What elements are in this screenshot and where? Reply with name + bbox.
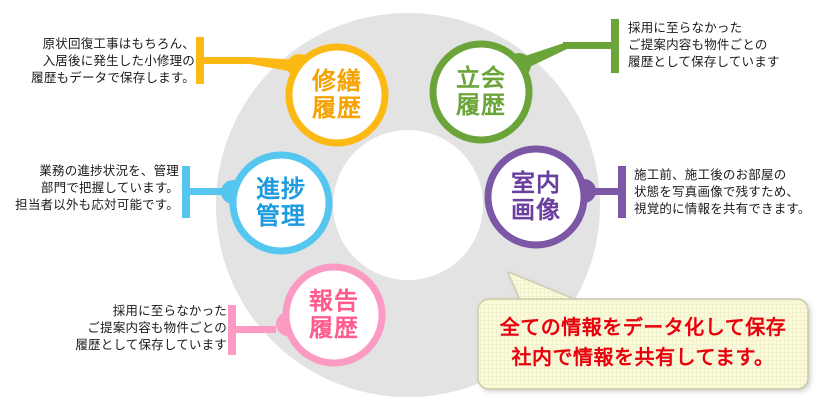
node-label-tachiai-rireki: 立会 履歴 [433,65,529,119]
description-shinchoku-kanri: 業務の進捗状況を、管理 部門で把握しています。 担当者以外も応対可能です。 [14,163,179,214]
description-tachiai-rireki: 採用に至らなかった ご提案内容も物件ごとの 履歴として保存しています [628,20,820,71]
node-label-shinchoku-kanri: 進捗 管理 [233,176,329,230]
description-shuzen-rireki: 原状回復工事はもちろん、 入居後に発生した小修理の 履歴もデータで保存します。 [30,36,195,87]
description-houkoku-rireki: 採用に至らなかった ご提案内容も物件ごとの 履歴として保存しています [62,303,227,354]
callout-message: 全ての情報をデータ化して保存 社内で情報を共有してます。 [478,313,808,373]
node-label-shitsunai-gazou: 室内 画像 [488,170,584,224]
node-label-shuzen-rireki: 修繕 履歴 [289,68,385,122]
diagram-canvas: 修繕 履歴 立会 履歴 進捗 管理 室内 画像 報告 履歴 原状回復工事はもちろ… [0,0,820,407]
description-shitsunai-gazou: 施工前、施工後のお部屋の 状態を写真画像で残すため、 視覚的に情報を共有できます… [634,167,820,218]
node-label-houkoku-rireki: 報告 履歴 [286,288,382,342]
